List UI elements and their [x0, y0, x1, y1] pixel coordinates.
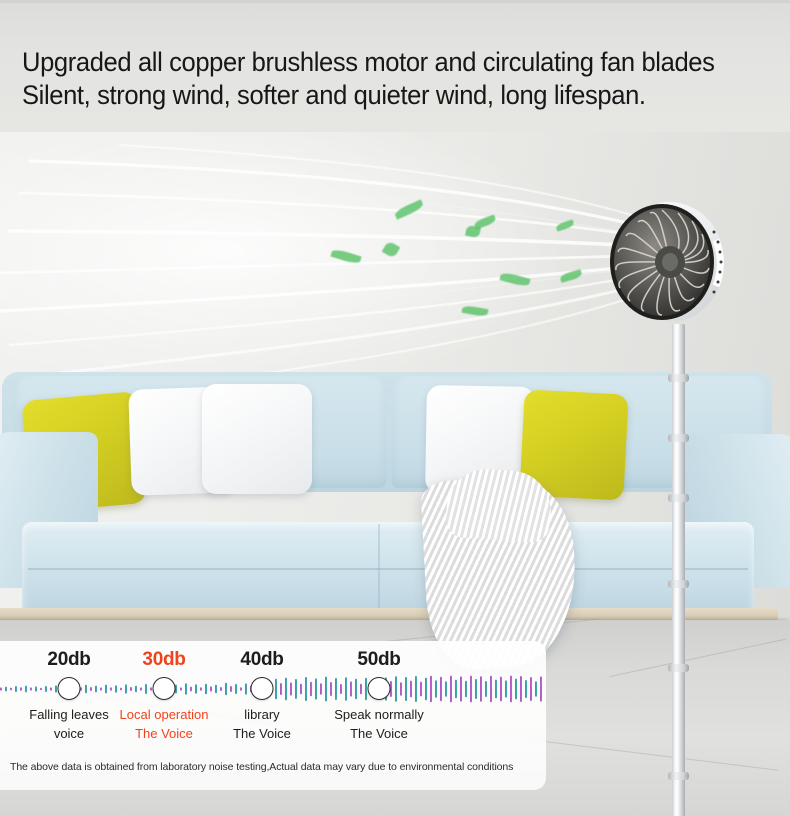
pole-joint	[668, 374, 689, 382]
db-caption-20-line2: voice	[29, 724, 109, 743]
pole-joint	[668, 580, 689, 588]
db-value-30: 30db	[142, 649, 185, 671]
headline-line-1: Upgraded all copper brushless motor and …	[22, 47, 715, 77]
db-caption-50-line1: Speak normally	[334, 705, 424, 724]
db-marker-20[interactable]	[58, 677, 81, 700]
sofa-seat-divider	[378, 524, 380, 608]
db-caption-50-line2: The Voice	[334, 724, 424, 743]
noise-disclaimer: The above data is obtained from laborato…	[10, 761, 530, 773]
db-marker-40[interactable]	[251, 677, 274, 700]
db-caption-30-line1: Local operation	[120, 705, 209, 724]
db-caption-40: library The Voice	[233, 705, 291, 743]
pole-joint	[668, 494, 689, 502]
db-marker-30[interactable]	[153, 677, 176, 700]
pole-joint	[668, 434, 689, 442]
header-top-rule	[0, 0, 790, 3]
db-caption-30-line2: The Voice	[120, 724, 209, 743]
headline-line-2: Silent, strong wind, softer and quieter …	[22, 79, 746, 112]
header-banner: Upgraded all copper brushless motor and …	[0, 0, 790, 132]
product-banner: Upgraded all copper brushless motor and …	[0, 0, 790, 816]
db-caption-20: Falling leaves voice	[29, 705, 109, 743]
fan-head	[598, 196, 728, 328]
db-caption-20-line1: Falling leaves	[29, 705, 109, 724]
fan-pole	[672, 324, 685, 816]
db-value-20: 20db	[47, 649, 90, 671]
db-caption-50: Speak normally The Voice	[334, 705, 424, 743]
pillow-white	[202, 384, 312, 494]
db-value-50: 50db	[357, 649, 400, 671]
db-caption-40-line2: The Voice	[233, 724, 291, 743]
page-title: Upgraded all copper brushless motor and …	[22, 46, 746, 112]
pole-joint	[668, 664, 689, 672]
db-value-40: 40db	[240, 649, 283, 671]
pole-joint	[668, 772, 689, 780]
db-marker-50[interactable]	[368, 677, 391, 700]
noise-level-panel: 20db Falling leaves voice 30db Local ope…	[0, 641, 546, 790]
db-caption-40-line1: library	[233, 705, 291, 724]
db-caption-30: Local operation The Voice	[120, 705, 209, 743]
fan	[598, 196, 778, 756]
